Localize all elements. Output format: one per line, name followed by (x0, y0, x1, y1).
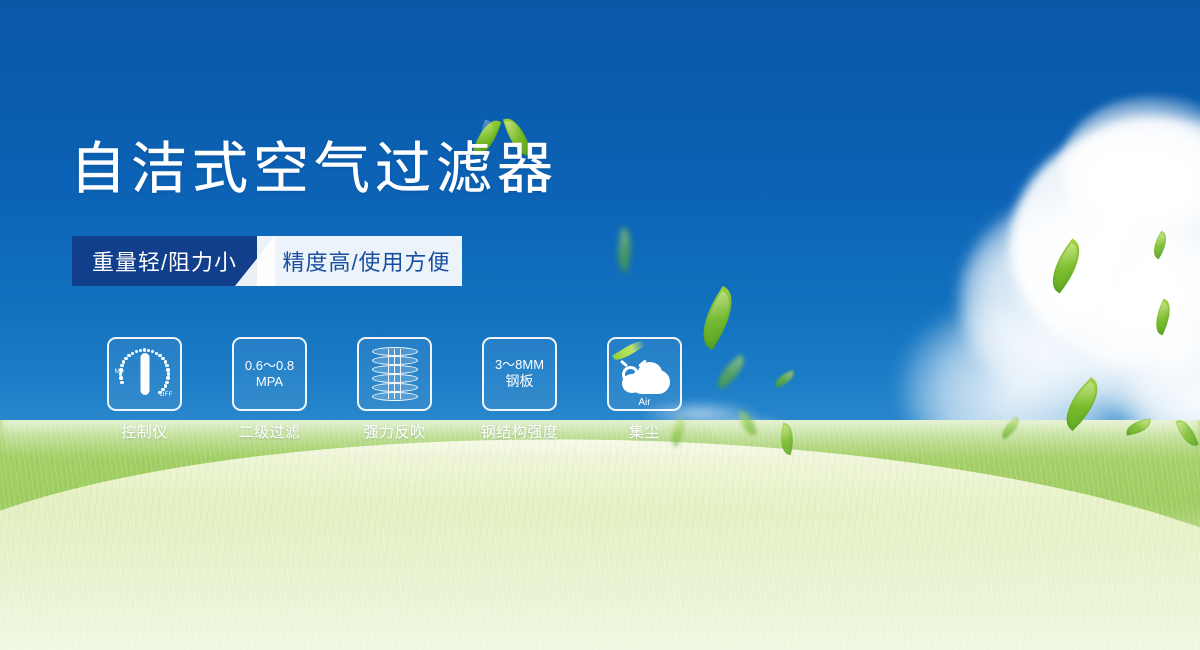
coil-ring (372, 383, 418, 392)
feature-item-dustcollect[interactable]: Air 集尘 (582, 337, 707, 442)
gauge-tick-dot (166, 376, 169, 379)
gauge-tick-dot (139, 349, 142, 352)
product-banner: 自洁式空气过滤器 重量轻/阻力小 精度高/使用方便 NO OFF 控制仪 (0, 0, 1200, 650)
feature-label: 二级过滤 (238, 421, 300, 442)
feature-icon-box (357, 337, 432, 411)
subtitle-right-text: 精度高/使用方便 (282, 245, 450, 277)
gauge-tick-dot (120, 364, 123, 367)
feature-icon-box: 0.6～0.8 MPA (232, 337, 307, 411)
feature-item-pressure[interactable]: 0.6～0.8 MPA 二级过滤 (207, 337, 332, 442)
feature-item-steel[interactable]: 3～8MM 钢板 钢结构强度 (457, 337, 582, 442)
gauge-tick-dot (161, 388, 164, 391)
steel-plate-text: 钢板 (506, 373, 534, 391)
gauge-tick-dot (131, 352, 134, 355)
gauge-tick-dot (147, 349, 150, 352)
coil-ring (372, 374, 418, 383)
pressure-unit-text: MPA (256, 374, 283, 390)
steel-thickness-text: 3～8MM (495, 357, 544, 373)
gauge-dial-icon: NO OFF (114, 345, 176, 403)
gauge-tick-dot (151, 350, 154, 353)
green-streak-icon (612, 338, 646, 364)
coil-ring (372, 356, 418, 365)
coil-ring (372, 365, 418, 374)
gauge-tick-dot (122, 360, 125, 363)
feature-icon-box: Air (607, 337, 682, 411)
coil-ring (372, 392, 418, 401)
gauge-tick-dot (135, 350, 138, 353)
feature-item-controller[interactable]: NO OFF 控制仪 (82, 337, 207, 442)
ground-light-glow (0, 500, 1200, 650)
feature-label: 控制仪 (121, 421, 168, 442)
gauge-tick-dot (119, 376, 122, 379)
gauge-tick-dot (120, 381, 123, 384)
coil-ring (372, 347, 418, 356)
cloud-body (630, 370, 670, 394)
pressure-range-text: 0.6～0.8 (245, 358, 294, 374)
gauge-needle (140, 353, 149, 395)
feature-icon-box: 3～8MM 钢板 (482, 337, 557, 411)
subtitle-segment-right: 精度高/使用方便 (257, 236, 462, 286)
gauge-tick-dot (124, 357, 127, 360)
subtitle-bar: 重量轻/阻力小 精度高/使用方便 (72, 236, 462, 286)
gauge-tick-dot (127, 354, 130, 357)
grass-ground (0, 420, 1200, 650)
subtitle-left-text: 重量轻/阻力小 (92, 245, 237, 277)
gauge-tick-dot (143, 348, 146, 351)
feature-label: 钢结构强度 (481, 421, 559, 442)
subtitle-segment-left: 重量轻/阻力小 (72, 236, 257, 286)
filter-coil-icon (372, 347, 418, 401)
feature-label: 集尘 (629, 421, 660, 442)
cloud-sun-air-icon: Air (618, 352, 672, 396)
gauge-tick-dot (158, 391, 161, 394)
feature-label: 强力反吹 (363, 421, 425, 442)
gauge-tick-dot (165, 364, 168, 367)
gauge-tick-dot (167, 372, 170, 375)
feature-item-backblow[interactable]: 强力反吹 (332, 337, 457, 442)
feature-icon-box: NO OFF (107, 337, 182, 411)
gauge-tick-dot (166, 368, 169, 371)
air-label: Air (618, 397, 672, 408)
page-title: 自洁式空气过滤器 (70, 141, 558, 197)
feature-list: NO OFF 控制仪 0.6～0.8 MPA 二级过滤 (82, 337, 707, 442)
gauge-tick-dot (119, 372, 122, 375)
sun-ray (619, 360, 627, 367)
gauge-tick-dot (119, 368, 122, 371)
